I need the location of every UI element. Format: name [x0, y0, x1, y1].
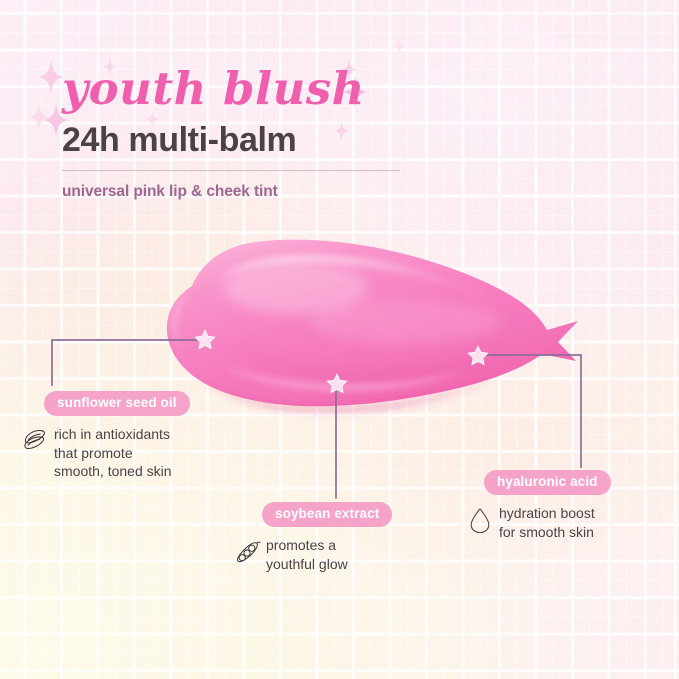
callout-description: rich in antioxidants that promote smooth… [54, 425, 172, 480]
status-badge[interactable]: sunflower seed oil [44, 391, 190, 416]
page-title: 24h multi-balm [62, 123, 482, 159]
soybean-pod-icon [232, 537, 262, 567]
page-subtitle: universal pink lip & cheek tint [62, 183, 482, 201]
star-marker-icon [467, 345, 489, 367]
water-droplet-icon [467, 505, 493, 535]
star-marker-icon [194, 329, 216, 351]
brand-title: youth blush [62, 66, 482, 111]
sunflower-seed-icon [20, 426, 50, 456]
status-badge[interactable]: hyaluronic acid [484, 470, 611, 495]
product-infographic: youth blush 24h multi-balm universal pin… [0, 0, 679, 679]
status-badge[interactable]: soybean extract [262, 502, 392, 527]
callout-soybean-extract: soybean extract promotes a youthful glow [262, 502, 392, 573]
header-block: youth blush 24h multi-balm universal pin… [62, 66, 482, 201]
title-divider [62, 170, 400, 172]
callout-sunflower-seed-oil: sunflower seed oil rich in antioxidants … [44, 391, 190, 481]
callout-description: hydration boost for smooth skin [499, 504, 595, 541]
callout-description: promotes a youthful glow [266, 536, 348, 573]
callout-hyaluronic-acid: hyaluronic acid hydration boost for smoo… [484, 470, 611, 541]
star-marker-icon [326, 373, 348, 395]
